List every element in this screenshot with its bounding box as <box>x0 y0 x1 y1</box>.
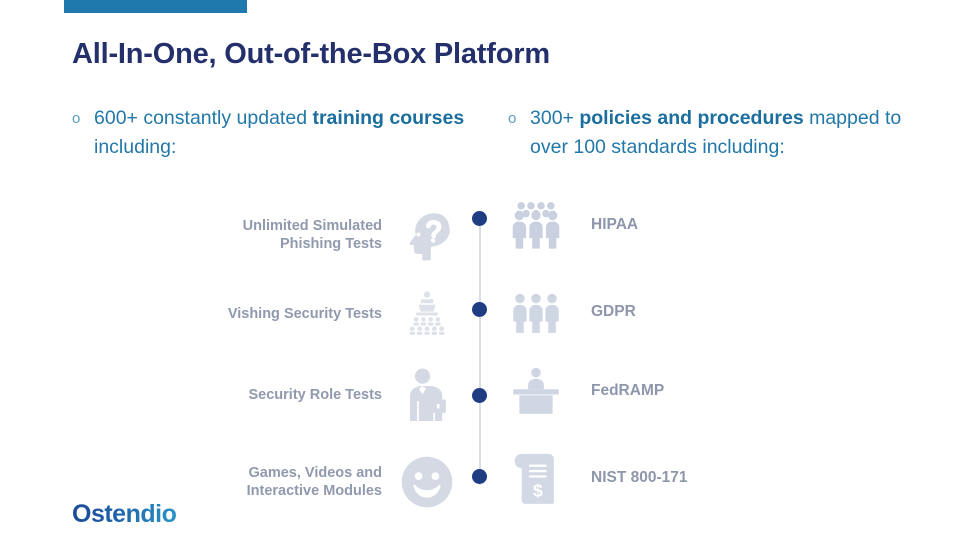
bullet-marker-icon: o <box>508 104 530 133</box>
timeline-line <box>479 213 481 485</box>
bullet-left-text-before: 600+ constantly updated <box>94 107 312 129</box>
left-item-label: Unlimited Simulated Phishing Tests <box>200 217 396 253</box>
list-item: Vishing Security Tests <box>200 283 458 345</box>
timeline-dot <box>472 211 487 226</box>
people-group-icon <box>505 194 567 256</box>
bullet-marker-icon: o <box>72 104 94 133</box>
right-item-label: GDPR <box>567 303 636 321</box>
three-people-icon <box>505 281 567 343</box>
timeline-dot <box>472 388 487 403</box>
bullet-right-text-bold: policies and procedures <box>579 107 803 129</box>
bullet-right: o 300+ policies and procedures mapped to… <box>508 104 908 162</box>
list-item: HIPAA <box>505 194 825 256</box>
list-item: Security Role Tests <box>200 362 458 428</box>
smiley-face-icon <box>396 451 458 513</box>
invoice-document-icon: $ <box>505 447 567 509</box>
bullet-right-text: 300+ policies and procedures mapped to o… <box>530 104 908 162</box>
list-item: FedRAMP <box>505 360 825 422</box>
slide-canvas: All-In-One, Out-of-the-Box Platform o 60… <box>0 0 960 540</box>
podium-audience-icon <box>396 283 458 345</box>
businessperson-briefcase-icon <box>396 364 458 426</box>
right-item-label: HIPAA <box>567 216 638 234</box>
bullet-left: o 600+ constantly updated training cours… <box>72 104 472 162</box>
bullet-left-text-bold: training courses <box>312 107 464 129</box>
timeline-dot <box>472 469 487 484</box>
timeline-dot <box>472 302 487 317</box>
bullet-left-text: 600+ constantly updated training courses… <box>94 104 472 162</box>
left-item-label: Security Role Tests <box>248 386 396 404</box>
bullet-right-text-before: 300+ <box>530 107 579 129</box>
ostendio-logo: Ostendio <box>72 500 176 529</box>
right-item-label: NIST 800-171 <box>567 469 688 487</box>
page-title: All-In-One, Out-of-the-Box Platform <box>72 38 550 71</box>
list-item: Games, Videos and Interactive Modules <box>200 448 458 516</box>
lectern-person-icon <box>505 360 567 422</box>
list-item: $ NIST 800-171 <box>505 445 825 511</box>
head-question-mark-icon <box>396 204 458 266</box>
left-item-label: Games, Videos and Interactive Modules <box>200 464 396 500</box>
right-item-label: FedRAMP <box>567 382 664 400</box>
accent-bar <box>64 0 247 13</box>
left-item-label: Vishing Security Tests <box>228 305 396 323</box>
list-item: GDPR <box>505 283 825 341</box>
list-item: Unlimited Simulated Phishing Tests <box>200 200 458 270</box>
svg-text:$: $ <box>533 481 543 501</box>
bullet-left-text-after: including: <box>94 136 176 158</box>
